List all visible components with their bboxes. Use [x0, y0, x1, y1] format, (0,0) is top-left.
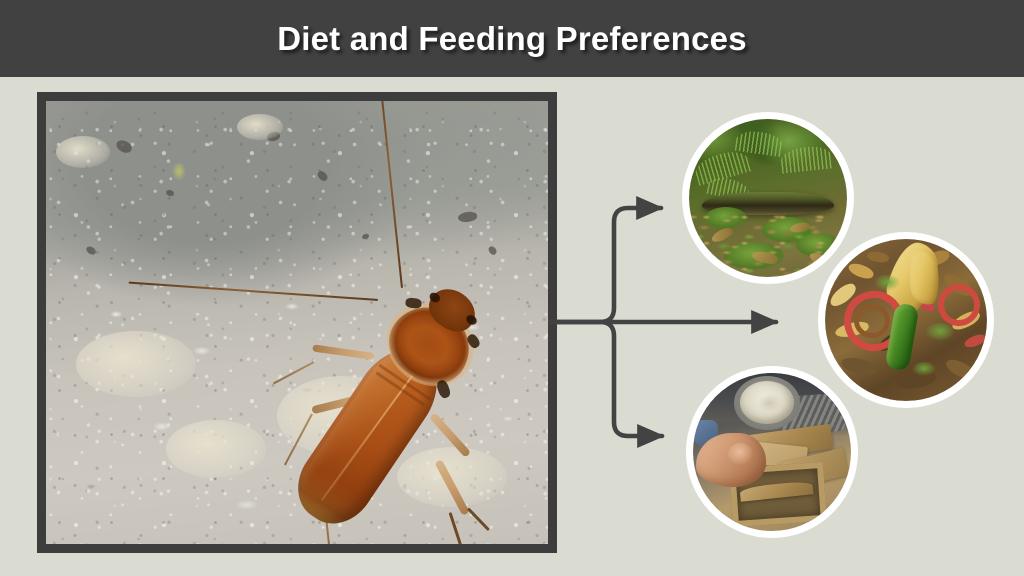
food-waste-image [825, 239, 987, 401]
thorax-dark-mark-left [405, 297, 422, 309]
concrete-pale-patch [237, 114, 283, 140]
green-scrap [874, 275, 900, 291]
main-photo-frame [37, 92, 557, 553]
slide-canvas: Diet and Feeding Preferences [0, 0, 1024, 576]
knuckle-highlight [728, 443, 753, 465]
thumbnail-food-waste [818, 232, 994, 408]
cockroach [282, 261, 532, 544]
leaf-litter [689, 211, 847, 277]
arrow-to-cardboard [548, 322, 662, 436]
forest-floor-image [689, 119, 847, 277]
concrete-pale-patch [76, 331, 196, 397]
arrow-to-forest-floor [548, 208, 661, 322]
cockroach-photo [46, 101, 548, 544]
page-title: Diet and Feeding Preferences [0, 0, 1024, 77]
concrete-yellow-fleck [172, 163, 186, 181]
onion-ring [854, 304, 890, 338]
